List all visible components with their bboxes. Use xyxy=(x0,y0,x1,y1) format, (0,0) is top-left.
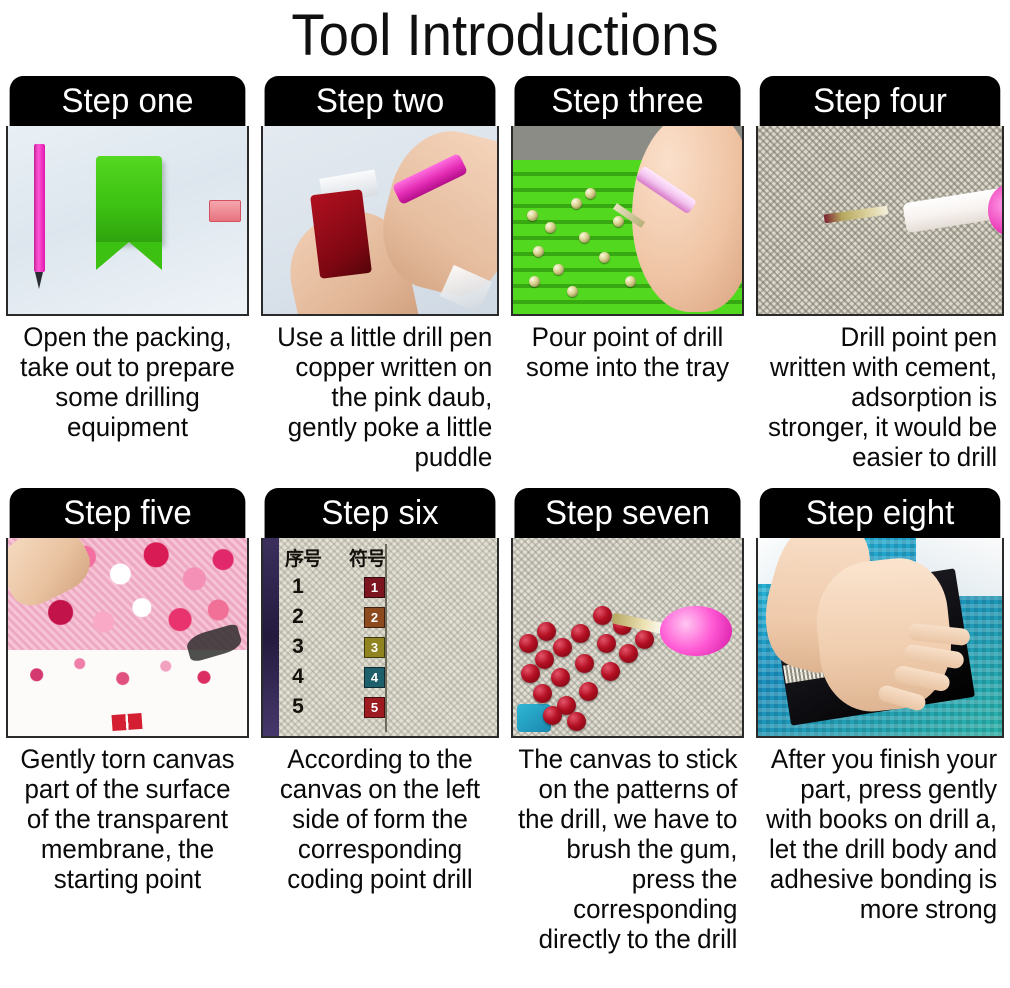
step-four-header: Step four xyxy=(760,76,1001,126)
legend-index: 2 xyxy=(285,605,311,629)
step-card-five: Step five Gently torn canvas part of the… xyxy=(0,488,255,954)
drill-bead-icon xyxy=(537,622,556,641)
step-eight-header: Step eight xyxy=(760,488,1001,538)
drill-bead-icon xyxy=(533,684,552,703)
step-seven-caption: The canvas to stick on the patterns of t… xyxy=(516,738,740,954)
drill-bead-icon xyxy=(567,712,586,731)
step-six-image: 序号 符号 1 1 2 2 3 3 4 4 xyxy=(261,538,499,738)
drill-bead-icon xyxy=(521,664,540,683)
drill-bead-icon xyxy=(585,188,596,199)
step-two-caption: Use a little drill pen copper written on… xyxy=(266,316,494,472)
green-tray-icon xyxy=(96,156,162,242)
step-eight-image xyxy=(756,538,1004,738)
step-one-caption: Open the packing, take out to prepare so… xyxy=(11,316,244,442)
step-card-seven: Step seven The canvas to xyxy=(505,488,750,954)
legend-index: 3 xyxy=(285,635,311,659)
red-wax-icon xyxy=(310,189,372,279)
legend-index: 1 xyxy=(285,575,311,599)
drill-bead-icon xyxy=(579,232,590,243)
step-seven-header: Step seven xyxy=(514,488,740,538)
drill-bead-icon xyxy=(575,654,594,673)
steps-row-two: Step five Gently torn canvas part of the… xyxy=(0,488,1010,954)
step-card-six: Step six 序号 符号 1 1 2 2 3 xyxy=(255,488,505,954)
step-three-caption: Pour point of drill some into the tray xyxy=(516,316,740,382)
drill-bead-icon xyxy=(597,634,616,653)
step-eight-caption: After you finish your part, press gently… xyxy=(761,738,999,924)
step-one-header: Step one xyxy=(10,76,246,126)
drill-bead-icon xyxy=(613,216,624,227)
drill-bead-icon xyxy=(601,662,620,681)
drill-bead-icon xyxy=(593,606,612,625)
step-six-header: Step six xyxy=(265,488,496,538)
step-four-caption: Drill point pen written with cement, ads… xyxy=(761,316,999,472)
steps-row-one: Step one Open the packing, take out to p… xyxy=(0,76,1010,472)
pink-pen-icon xyxy=(660,606,732,656)
legend-symbol: 3 xyxy=(364,637,385,658)
legend-index: 5 xyxy=(285,695,311,719)
page-title: Tool Introductions xyxy=(30,0,979,76)
drill-bead-icon xyxy=(535,650,554,669)
drill-bead-icon xyxy=(527,210,538,221)
drill-bead-icon xyxy=(553,264,564,275)
step-six-caption: According to the canvas on the left side… xyxy=(266,738,494,894)
drill-bead-icon xyxy=(635,630,654,649)
drill-bead-icon xyxy=(571,198,582,209)
drill-bead-icon xyxy=(545,222,556,233)
legend-table: 序号 符号 1 1 2 2 3 3 4 4 xyxy=(285,544,385,722)
drill-bead-icon xyxy=(571,624,590,643)
legend-symbol: 4 xyxy=(364,667,385,688)
drill-bead-icon xyxy=(619,644,638,663)
step-two-header: Step two xyxy=(265,76,496,126)
drill-bead-icon xyxy=(543,706,562,725)
sparse-pattern-icon xyxy=(8,650,247,712)
step-card-eight: Step eight After you finish your part, p… xyxy=(750,488,1010,954)
legend-row: 4 4 xyxy=(285,662,385,692)
step-one-image xyxy=(6,126,249,316)
drill-bead-icon xyxy=(553,638,572,657)
legend-row: 1 1 xyxy=(285,572,385,602)
step-card-four: Step four Drill point pen written with c… xyxy=(750,76,1010,472)
drill-bead-icon xyxy=(579,682,598,701)
legend-header-index: 序号 xyxy=(285,544,321,571)
red-bow-icon xyxy=(111,713,142,731)
pencil-tip-icon xyxy=(35,272,43,289)
drill-bead-icon xyxy=(533,246,544,257)
drill-bead-icon xyxy=(567,286,578,297)
eraser-icon xyxy=(209,200,241,222)
drill-bead-icon xyxy=(551,668,570,687)
legend-row: 2 2 xyxy=(285,602,385,632)
legend-index: 4 xyxy=(285,665,311,689)
drill-bead-icon xyxy=(529,276,540,287)
pencil-icon xyxy=(34,144,45,272)
legend-row: 3 3 xyxy=(285,632,385,662)
step-card-two: Step two Use a little drill pen copper w… xyxy=(255,76,505,472)
legend-symbol: 1 xyxy=(364,577,385,598)
legend-symbol: 5 xyxy=(364,697,385,718)
step-three-header: Step three xyxy=(514,76,740,126)
step-four-image xyxy=(756,126,1004,316)
step-five-header: Step five xyxy=(10,488,246,538)
step-five-caption: Gently torn canvas part of the surface o… xyxy=(11,738,244,894)
step-five-image xyxy=(6,538,249,738)
step-card-one: Step one Open the packing, take out to p… xyxy=(0,76,255,472)
thumb-icon xyxy=(632,126,744,312)
step-two-image xyxy=(261,126,499,316)
legend-symbol: 2 xyxy=(364,607,385,628)
drill-bead-icon xyxy=(599,252,610,263)
step-seven-image xyxy=(511,538,744,738)
step-three-image xyxy=(511,126,744,316)
drill-bead-icon xyxy=(519,634,538,653)
drill-bead-icon xyxy=(625,276,636,287)
purple-edge-strip xyxy=(263,538,279,736)
legend-table-header-row: 序号 符号 xyxy=(285,544,385,571)
table-divider xyxy=(385,544,387,732)
legend-header-symbol: 符号 xyxy=(349,544,385,571)
legend-row: 5 5 xyxy=(285,692,385,722)
step-card-three: Step three Pour point of drill some into… xyxy=(505,76,750,472)
